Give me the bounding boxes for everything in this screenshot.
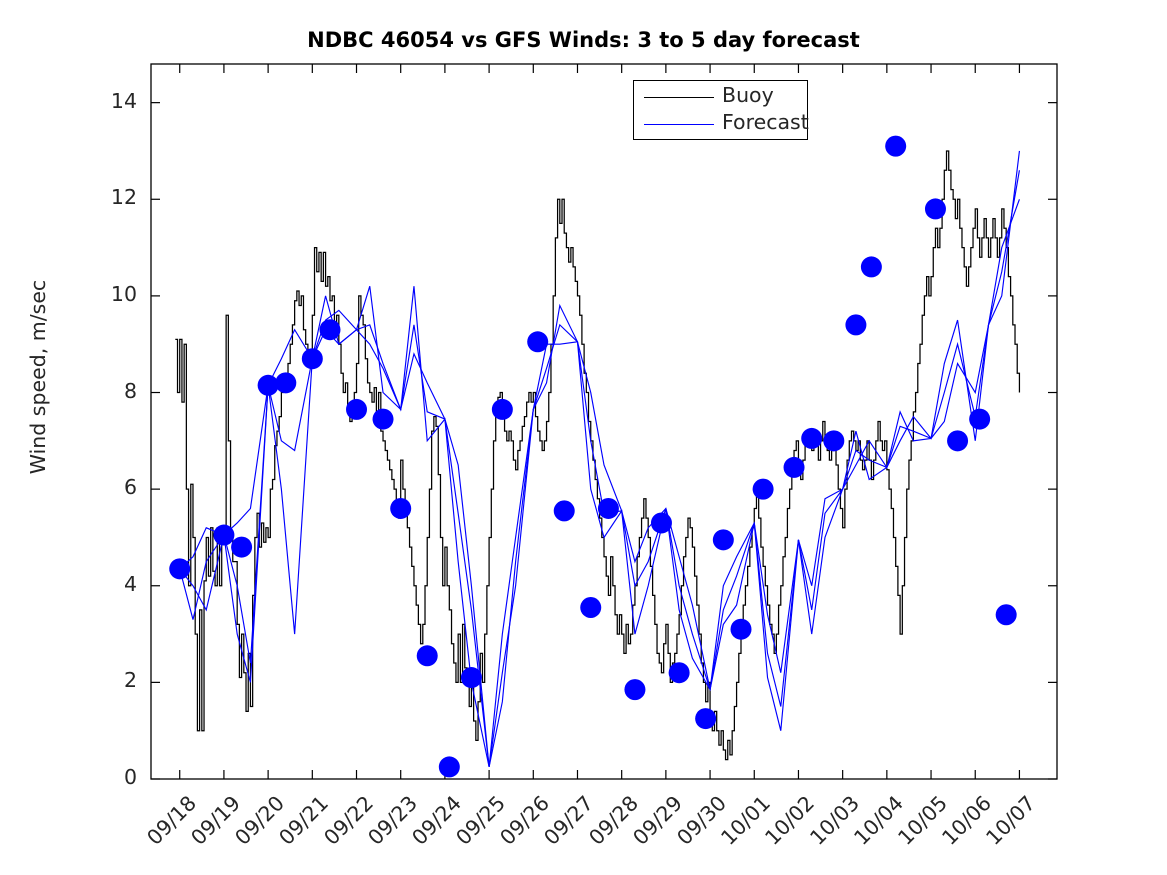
marker-point (258, 375, 279, 396)
marker-point (275, 372, 296, 393)
legend-swatch-forecast (644, 124, 714, 125)
data-series (175, 151, 1019, 767)
marker-point (651, 512, 672, 533)
marker-point (845, 314, 866, 335)
marker-point (731, 619, 752, 640)
y-tick-label: 6 (77, 475, 137, 499)
marker-point (823, 430, 844, 451)
y-tick-label: 10 (77, 282, 137, 306)
legend-swatch-buoy (644, 97, 714, 98)
marker-point (753, 479, 774, 500)
marker-point (390, 498, 411, 519)
series-forecast-3-day- (180, 199, 1020, 767)
marker-point (527, 331, 548, 352)
y-tick-label: 8 (77, 379, 137, 403)
marker-point (554, 500, 575, 521)
axes-border (151, 64, 1057, 779)
marker-point (417, 645, 438, 666)
axis-ticks (151, 64, 1057, 779)
y-tick-label: 12 (77, 185, 137, 209)
marker-point (861, 256, 882, 277)
marker-point (925, 198, 946, 219)
marker-point (885, 136, 906, 157)
legend-label-forecast: Forecast (722, 110, 809, 134)
marker-point (492, 399, 513, 420)
marker-point (373, 409, 394, 430)
marker-point (801, 428, 822, 449)
marker-point (302, 348, 323, 369)
axes-frame (151, 64, 1057, 779)
marker-point (624, 679, 645, 700)
chart-figure: NDBC 46054 vs GFS Winds: 3 to 5 day fore… (0, 0, 1167, 875)
marker-point (947, 430, 968, 451)
marker-point (346, 399, 367, 420)
y-tick-label: 0 (77, 765, 137, 789)
legend: Buoy Forecast (633, 80, 808, 140)
marker-point (231, 537, 252, 558)
y-tick-label: 4 (77, 572, 137, 596)
marker-point (213, 525, 234, 546)
marker-point (439, 756, 460, 777)
marker-point (695, 708, 716, 729)
marker-point (784, 457, 805, 478)
legend-row-buoy: Buoy (634, 84, 807, 111)
marker-point (319, 319, 340, 340)
y-tick-label: 14 (77, 89, 137, 113)
marker-point (669, 662, 690, 683)
legend-row-forecast: Forecast (634, 111, 807, 138)
marker-point (969, 409, 990, 430)
marker-point (996, 604, 1017, 625)
marker-point (580, 597, 601, 618)
marker-point (169, 558, 190, 579)
y-tick-label: 2 (77, 668, 137, 692)
marker-point (713, 529, 734, 550)
plot-area (0, 0, 1167, 875)
marker-point (598, 498, 619, 519)
legend-label-buoy: Buoy (722, 83, 774, 107)
marker-point (461, 667, 482, 688)
